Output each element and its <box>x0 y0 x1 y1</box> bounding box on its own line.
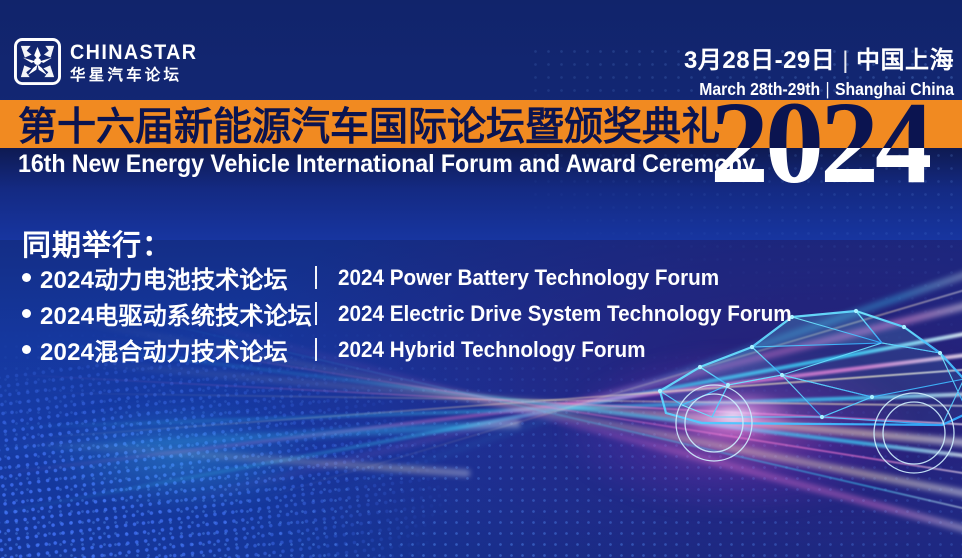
forum-name-en: 2024 Power Battery Technology Forum <box>338 265 719 291</box>
forum-separator <box>315 338 317 361</box>
list-item[interactable]: 2024电驱动系统技术论坛 2024 Electric Drive System… <box>22 298 821 329</box>
date-separator-cn: | <box>835 47 856 74</box>
year-display: 2024 2024 <box>710 84 930 202</box>
event-date-cn: 3月28日-29日 <box>684 47 835 74</box>
page-title-cn: 第十六届新能源汽车国际论坛暨颁奖典礼 <box>18 100 720 148</box>
forum-separator <box>315 266 317 289</box>
brand-logo[interactable]: CHINASTAR 华星汽车论坛 <box>14 38 206 85</box>
forum-list: 2024动力电池技术论坛 2024 Power Battery Technolo… <box>22 262 821 370</box>
list-item[interactable]: 2024动力电池技术论坛 2024 Power Battery Technolo… <box>22 262 821 293</box>
list-item[interactable]: 2024混合动力技术论坛 2024 Hybrid Technology Foru… <box>22 334 821 365</box>
page-title-en: 16th New Energy Vehicle International Fo… <box>18 150 755 179</box>
headlight-glow <box>673 391 793 441</box>
forum-name-en: 2024 Hybrid Technology Forum <box>338 337 646 363</box>
logo-name-en: CHINASTAR <box>70 42 197 63</box>
concurrent-events-label: 同期举行： <box>22 222 172 264</box>
forum-name-cn: 2024混合动力技术论坛 <box>40 332 315 367</box>
bullet-icon <box>22 309 31 318</box>
cyan-glow <box>38 402 318 512</box>
chinastar-star-emblem-icon <box>14 38 61 85</box>
forum-name-cn: 2024电驱动系统技术论坛 <box>40 296 315 331</box>
bullet-icon <box>22 273 31 282</box>
forum-separator <box>315 302 317 325</box>
logo-name-cn: 华星汽车论坛 <box>70 68 206 84</box>
event-poster: CHINASTAR 华星汽车论坛 3月28日-29日|中国上海 March 28… <box>0 0 962 558</box>
event-date-cn-line: 3月28日-29日|中国上海 <box>671 40 954 75</box>
event-location-cn: 中国上海 <box>856 47 954 74</box>
bullet-icon <box>22 345 31 354</box>
forum-name-en: 2024 Electric Drive System Technology Fo… <box>338 301 792 327</box>
forum-name-cn: 2024动力电池技术论坛 <box>40 260 315 295</box>
